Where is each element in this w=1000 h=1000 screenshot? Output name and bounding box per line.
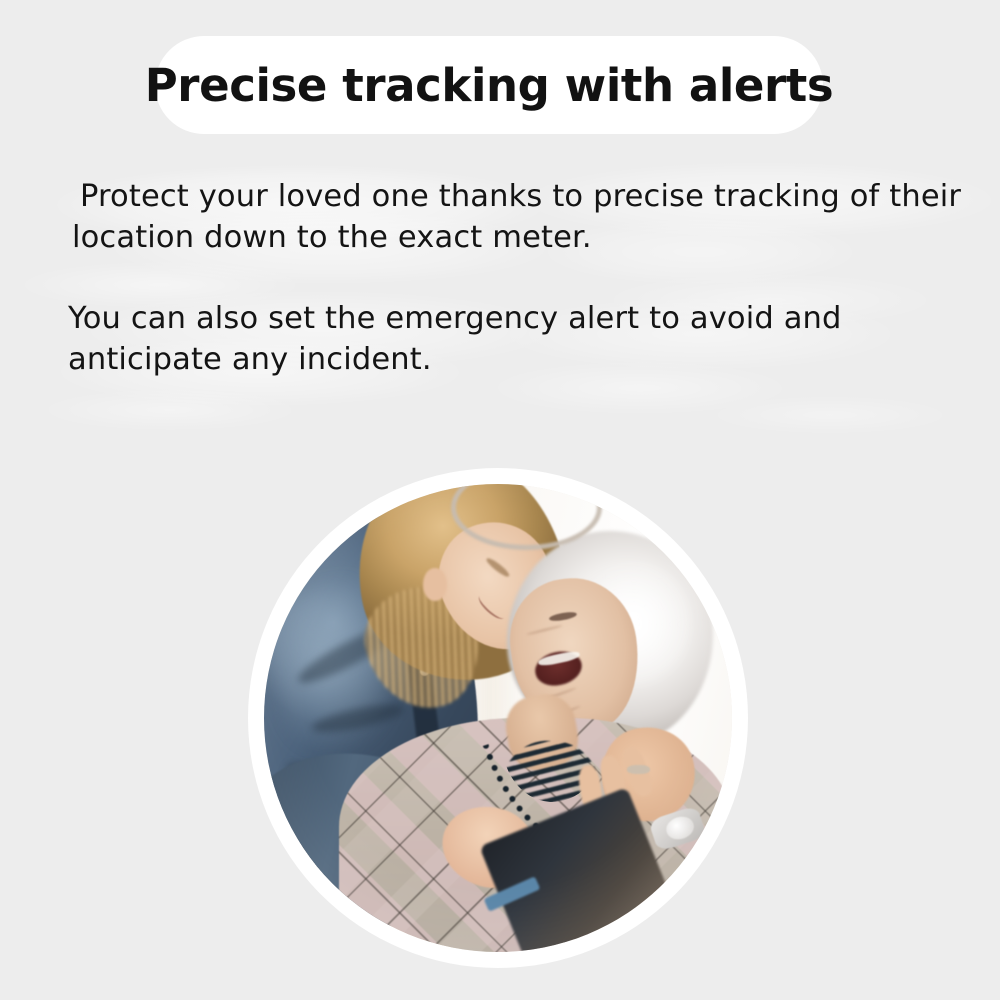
body-paragraph-two: You can also set the emergency alert to …	[68, 298, 998, 380]
elderly-woman-ring	[627, 765, 650, 774]
photo-scene	[264, 484, 732, 952]
page-title: Precise tracking with alerts	[145, 63, 834, 108]
title-pill: Precise tracking with alerts	[155, 36, 823, 134]
photo-frame	[248, 468, 748, 968]
caregiver-ear	[423, 568, 446, 601]
photo-circular-image	[264, 484, 732, 952]
body-paragraph-one: Protect your loved one thanks to precise…	[72, 176, 1000, 258]
slide-canvas: Precise tracking with alerts Protect you…	[0, 0, 1000, 1000]
